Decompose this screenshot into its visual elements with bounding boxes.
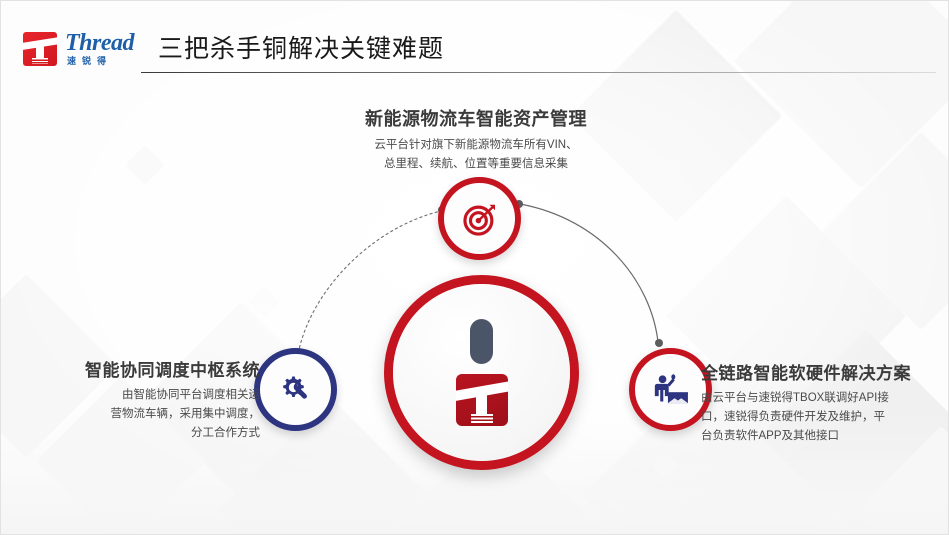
connector-dot-right: [655, 339, 663, 347]
node-dispatch-system[interactable]: [254, 348, 337, 431]
asset-management-heading: 新能源物流车智能资产管理: [331, 105, 621, 131]
software-hardware-heading: 全链路智能软硬件解决方案: [701, 359, 943, 384]
software-hardware-body-line3: 台负责软件APP及其他接口: [701, 427, 943, 446]
text-block-software-hardware: 全链路智能软硬件解决方案 由云平台与速锐得TBOX联调好API接 口，速锐得负责…: [701, 359, 943, 446]
dispatch-system-body-line3: 分工合作方式: [25, 424, 260, 443]
thread-logo-icon: [456, 374, 508, 426]
dispatch-system-body-line2: 营物流车辆，采用集中调度，: [25, 405, 260, 424]
gear-wrench-icon: [278, 372, 314, 408]
software-hardware-body-line2: 口，速锐得负责硬件开发及维护，平: [701, 408, 943, 427]
center-node[interactable]: [384, 275, 579, 470]
text-block-asset-management: 新能源物流车智能资产管理 云平台针对旗下新能源物流车所有VIN、 总里程、续航、…: [331, 105, 621, 174]
worker-envelope-icon: [651, 372, 691, 408]
asset-management-body-line1: 云平台针对旗下新能源物流车所有VIN、: [331, 136, 621, 155]
node-software-hardware[interactable]: [629, 348, 712, 431]
dispatch-system-body-line1: 由智能协同平台调度相关运: [25, 386, 260, 405]
slide-canvas: Thread 速锐得 三把杀手铜解决关键难题: [0, 0, 949, 535]
software-hardware-body-line1: 由云平台与速锐得TBOX联调好API接: [701, 389, 943, 408]
target-dartboard-icon: [461, 200, 499, 238]
dispatch-system-heading: 智能协同调度中枢系统: [25, 356, 260, 381]
center-pill-shape: [470, 319, 493, 364]
node-asset-management[interactable]: [438, 177, 521, 260]
asset-management-body-line2: 总里程、续航、位置等重要信息采集: [331, 155, 621, 174]
text-block-dispatch-system: 智能协同调度中枢系统 由智能协同平台调度相关运 营物流车辆，采用集中调度， 分工…: [25, 356, 260, 443]
